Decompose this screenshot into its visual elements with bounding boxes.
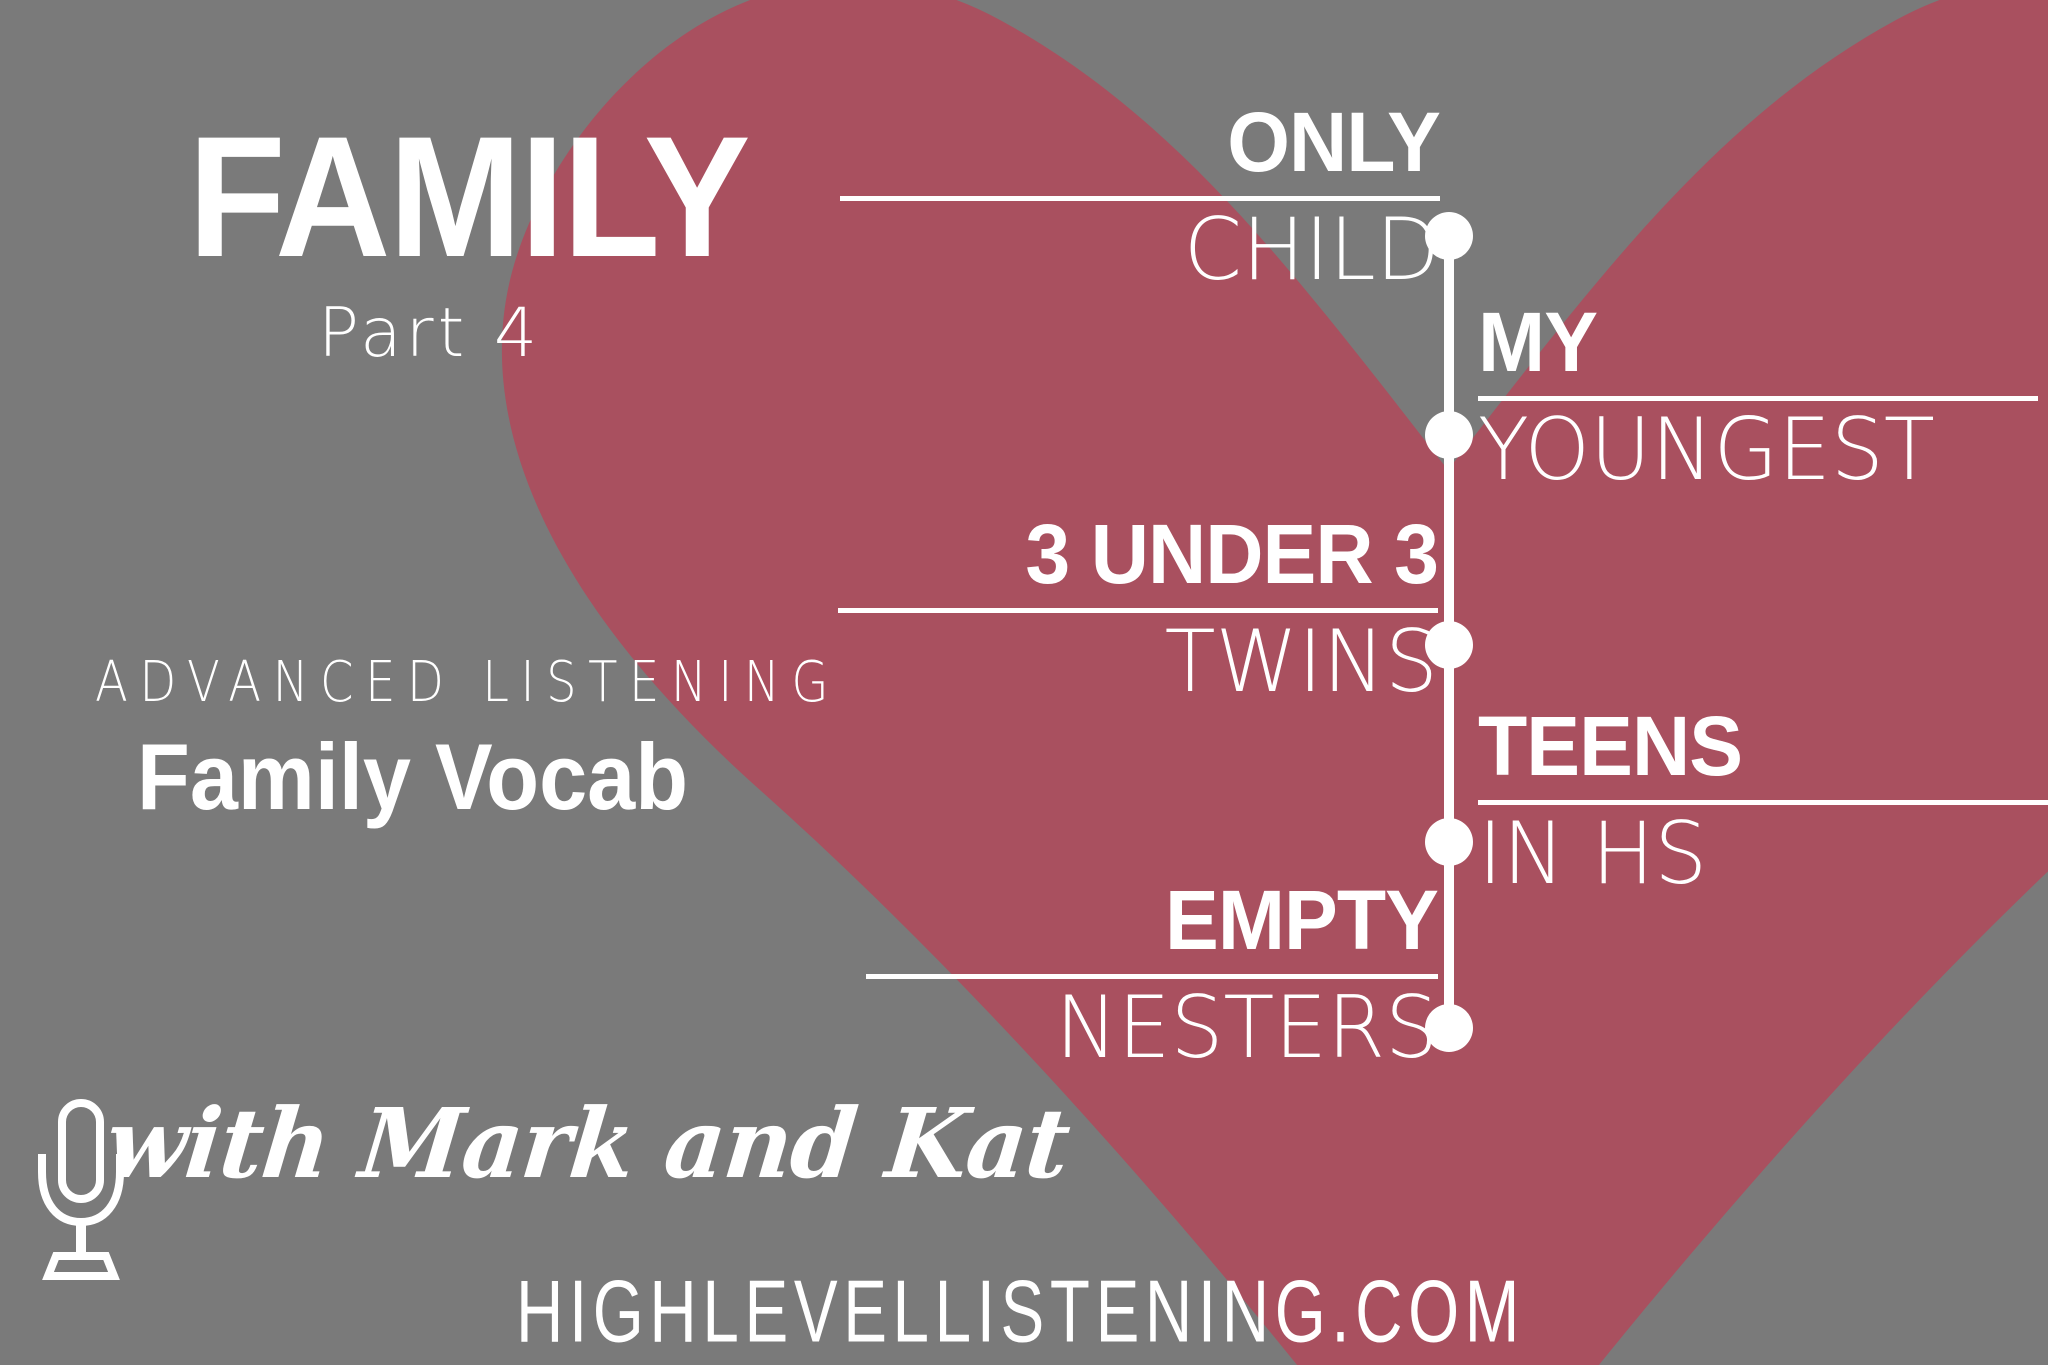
part-label: Part 4 <box>318 300 541 368</box>
vocab-entry-my-youngest: MY YOUNGEST <box>1478 300 2038 495</box>
vocab-term-top: 3 UNDER 3 <box>862 512 1438 596</box>
vocab-term-bottom: CHILD <box>858 207 1440 295</box>
vocab-term-top: ONLY <box>864 100 1440 184</box>
page-title: FAMILY <box>188 118 749 276</box>
vocab-term-top: TEENS <box>1478 704 2025 788</box>
timeline-dot <box>1425 411 1473 459</box>
slide-canvas: FAMILY Part 4 ADVANCED LISTENING Family … <box>0 0 2048 1365</box>
series-label: ADVANCED LISTENING <box>95 654 840 710</box>
vocab-term-top: EMPTY <box>889 878 1438 962</box>
vocab-term-bottom: IN HS <box>1478 811 2031 899</box>
timeline-spine <box>1440 212 1458 1040</box>
hosts-line: with Mark and Kat <box>102 1096 1074 1192</box>
website-url: HIGHLEVELLISTENING.COM <box>516 1268 1525 1357</box>
vocab-entry-3-under-3: 3 UNDER 3 TWINS <box>838 512 1438 707</box>
episode-title: Family Vocab <box>137 730 688 824</box>
vocab-term-bottom: NESTERS <box>883 985 1438 1073</box>
vocab-term-bottom: TWINS <box>856 619 1438 707</box>
branding-column: FAMILY Part 4 ADVANCED LISTENING Family … <box>0 0 900 1365</box>
vocab-entry-empty-nesters: EMPTY NESTERS <box>866 878 1438 1073</box>
vocab-entry-only-child: ONLY CHILD <box>840 100 1440 295</box>
vocab-entry-teens-in-hs: TEENS IN HS <box>1478 704 2048 899</box>
vocab-term-bottom: YOUNGEST <box>1478 407 2021 495</box>
vocab-term-top: MY <box>1478 300 2016 384</box>
timeline-dot <box>1425 818 1473 866</box>
